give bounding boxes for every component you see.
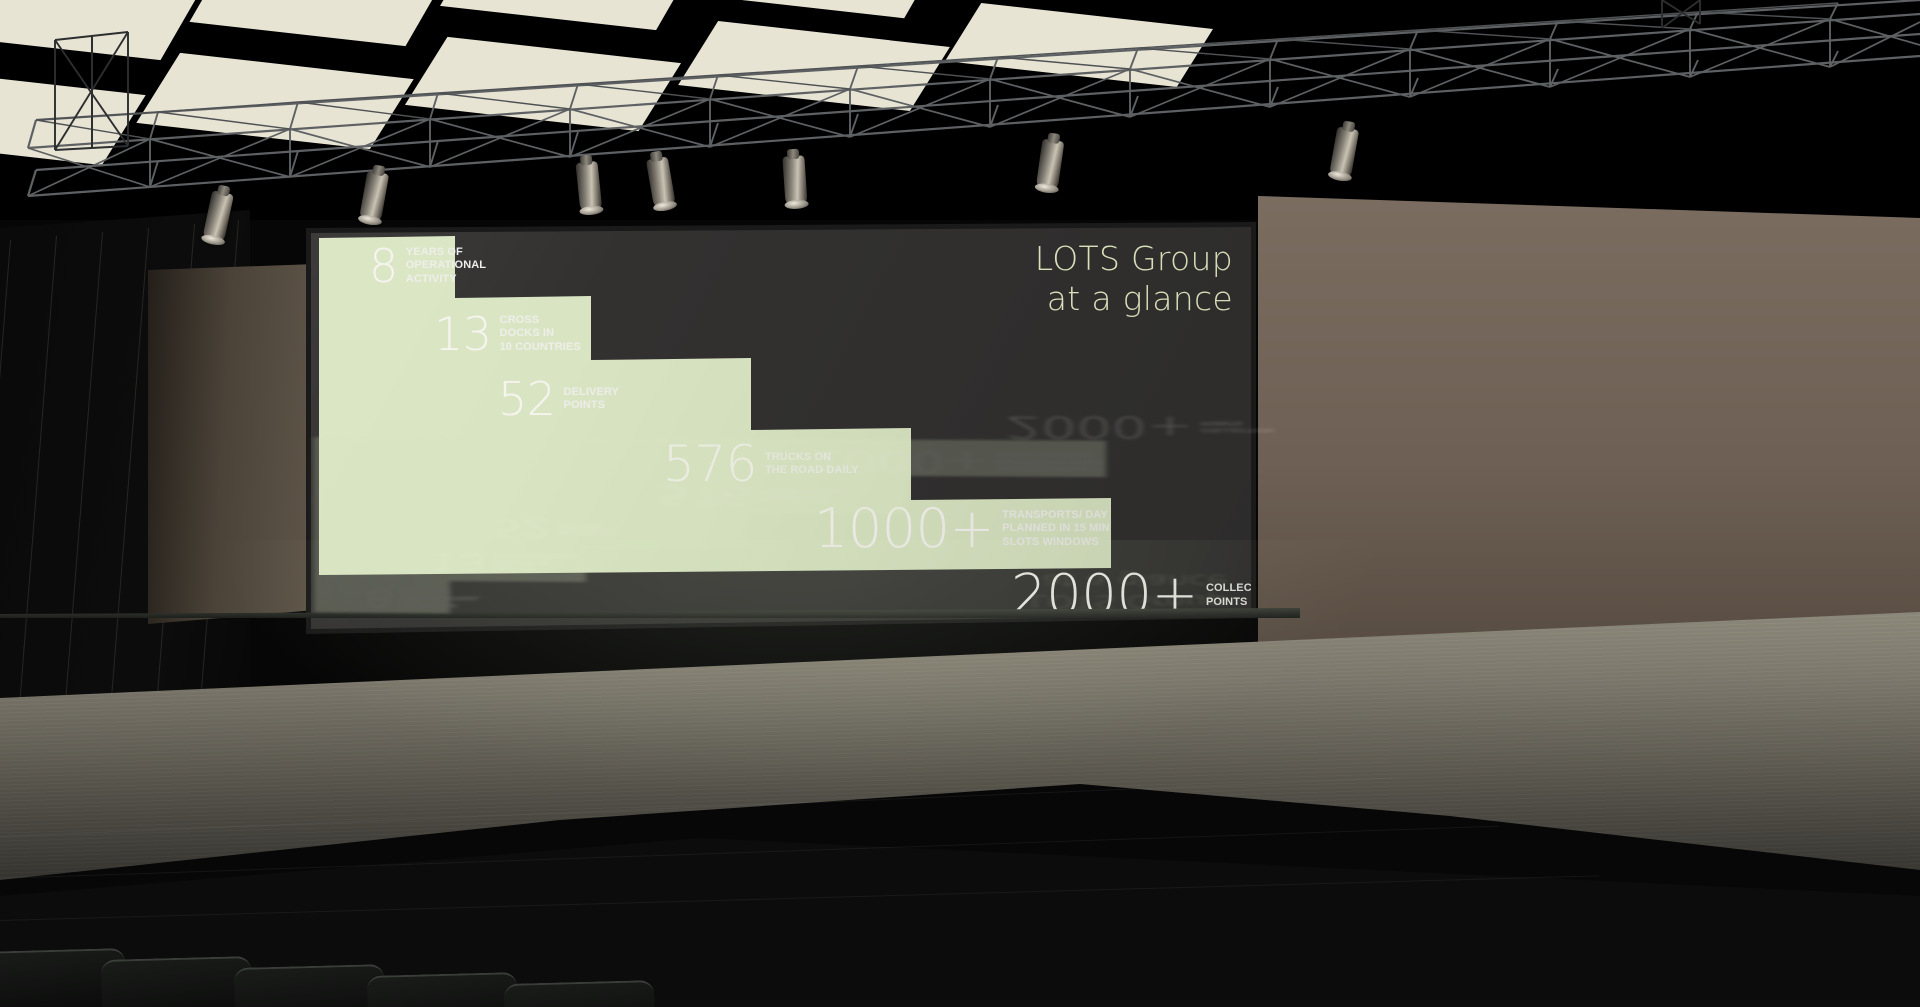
- stat-value: 8: [369, 245, 398, 287]
- stat-value: 1000+: [814, 504, 994, 554]
- stat-label: TRANSPORTS/ DAYPLANNED IN 15 MINSLOTS WI…: [1002, 509, 1109, 549]
- stat-label-line: TRUCKS ON: [765, 451, 859, 464]
- slide-title-line2: at a glance: [1035, 279, 1233, 319]
- ceiling-panel: [0, 0, 206, 60]
- auditorium-seat: [367, 972, 519, 1007]
- stat-label-line: COLLECTION: [1206, 582, 1251, 595]
- stat-item: 52 DELIVERYPOINTS: [498, 378, 619, 420]
- stat-label-line: THE ROAD DAILY: [765, 464, 859, 477]
- stat-label-line: 10 COUNTRIES: [500, 341, 581, 354]
- stat-label: COLLECTIONPOINTS: [1206, 582, 1251, 609]
- stat-label: YEARS OFOPERATIONALACTIVITY: [406, 246, 486, 286]
- presentation-screen: 8 YEARS OFOPERATIONALACTIVITY 13 CROSSDO…: [306, 222, 1256, 634]
- wall-panel-right: [1258, 196, 1920, 676]
- ceiling-panel: [945, 3, 1213, 87]
- ceiling-panel: [189, 0, 450, 46]
- slide-title-line1: LOTS Group: [1035, 239, 1233, 279]
- slide-content: 8 YEARS OFOPERATIONALACTIVITY 13 CROSSDO…: [311, 227, 1251, 629]
- ceiling-panel: [405, 37, 681, 131]
- stat-label-line: POINTS: [1206, 596, 1251, 609]
- stat-label-line: PLANNED IN 15 MIN: [1002, 522, 1109, 535]
- stat-label-line: YEARS OF: [406, 246, 486, 259]
- stat-item: 8 YEARS OFOPERATIONALACTIVITY: [369, 245, 486, 287]
- stat-label-line: DOCKS IN: [500, 327, 581, 340]
- stat-label-line: CROSS: [500, 314, 581, 327]
- stage-spotlight: [782, 155, 807, 206]
- stat-label-line: ACTIVITY: [406, 273, 486, 286]
- wall-panel-left: [148, 264, 316, 624]
- slide-title: LOTS Group at a glance: [1035, 239, 1233, 320]
- stat-item: 13 CROSSDOCKS IN10 COUNTRIES: [434, 313, 581, 355]
- stat-value: 52: [498, 378, 556, 420]
- ceiling-panel: [0, 69, 146, 165]
- ceiling-panel: [686, 0, 945, 18]
- stat-label-line: POINTS: [564, 399, 619, 412]
- stat-label-line: TRANSPORTS/ DAY: [1002, 509, 1109, 522]
- stat-item: 576 TRUCKS ONTHE ROAD DAILY: [663, 441, 859, 487]
- stat-label-line: SLOTS WINDOWS: [1002, 536, 1109, 549]
- stat-value: 576: [663, 441, 757, 487]
- stat-label-line: DELIVERY: [564, 386, 619, 399]
- auditorium-seat: [101, 956, 253, 1007]
- ceiling: [0, 0, 1920, 220]
- ceiling-panel: [440, 0, 700, 30]
- ceiling-panel: [678, 21, 950, 111]
- stage-scene: 8 YEARS OFOPERATIONALACTIVITY 13 CROSSDO…: [0, 0, 1920, 1007]
- auditorium-seat: [504, 980, 656, 1007]
- screen-surface: 8 YEARS OFOPERATIONALACTIVITY 13 CROSSDO…: [311, 227, 1251, 629]
- stat-label-line: OPERATIONAL: [406, 259, 486, 272]
- stat-label: TRUCKS ONTHE ROAD DAILY: [765, 451, 859, 478]
- stat-value: 13: [434, 313, 492, 355]
- auditorium-seat: [234, 964, 386, 1007]
- stat-label: DELIVERYPOINTS: [564, 386, 619, 413]
- stat-label: CROSSDOCKS IN10 COUNTRIES: [500, 314, 581, 354]
- ceiling-panel: [136, 53, 413, 149]
- stat-item: 1000+ TRANSPORTS/ DAYPLANNED IN 15 MINSL…: [814, 504, 1110, 554]
